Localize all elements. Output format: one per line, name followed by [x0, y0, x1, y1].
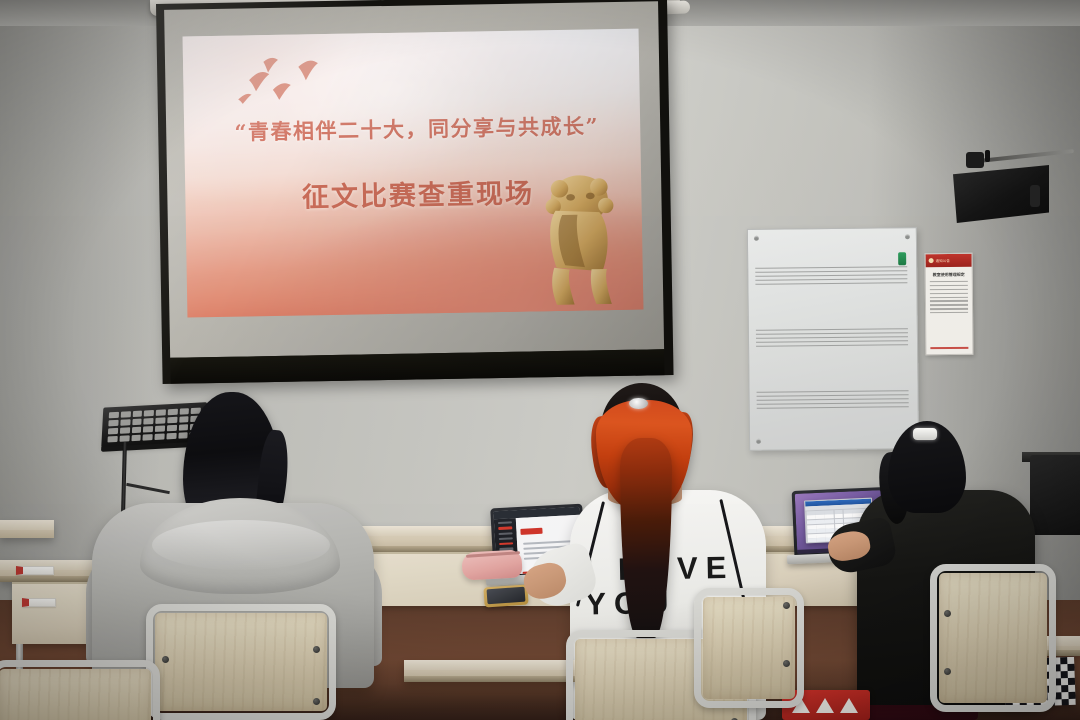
classroom-chair[interactable] [930, 564, 1056, 712]
chair-frame [930, 564, 1056, 712]
red-header-notice-poster: 通知公告 教室使用管理规定 [925, 253, 974, 355]
hair-clip [913, 428, 937, 440]
poster-header-text: 通知公告 [936, 258, 950, 263]
chair-frame [146, 604, 336, 720]
projection-screen: “青春相伴二十大，同分享与共成长” 征文比赛查重现场 [156, 0, 674, 384]
music-staff-whiteboard [747, 227, 919, 451]
primary-action-button[interactable] [521, 528, 543, 535]
classroom-chair[interactable] [0, 660, 160, 720]
chair-bolt [783, 602, 790, 609]
screen-surface: “青春相伴二十大，同分享与共成长” 征文比赛查重现场 [164, 1, 664, 358]
phone-screen[interactable] [487, 587, 526, 605]
music-stave [755, 266, 907, 288]
poster-header: 通知公告 [926, 254, 972, 267]
slide-title: “青春相伴二十大，同分享与共成长” [202, 110, 631, 147]
sweatshirt-text-line-1: I LOVE [584, 551, 755, 588]
desk-number-sticker [16, 566, 54, 575]
ponytail [620, 438, 672, 638]
classroom-desk [0, 520, 54, 538]
poster-footer-rule [930, 347, 968, 349]
classroom-chair[interactable] [694, 588, 804, 708]
chair-bolt [162, 656, 169, 663]
speaker-bolt [985, 150, 990, 162]
whiteboard-magnet[interactable] [898, 252, 906, 265]
whiteboard-screw [754, 236, 759, 241]
poster-title: 教室使用管理规定 [926, 272, 972, 278]
chair-bolt [783, 660, 790, 667]
speaker-bracket-cap [966, 152, 984, 168]
chair-bolt [313, 698, 320, 705]
projected-slide: “青春相伴二十大，同分享与共成长” 征文比赛查重现场 [183, 29, 644, 318]
desk-number-sticker [22, 598, 56, 607]
whiteboard-screw [756, 439, 761, 444]
desk-top-surface [0, 520, 54, 530]
chair-frame [0, 660, 160, 720]
chair-bolt [944, 668, 951, 675]
flying-birds-icon [206, 53, 371, 118]
whiteboard-screw [905, 234, 910, 239]
speaker-port [1030, 185, 1040, 207]
poster-body-lines [926, 281, 972, 314]
music-stave [757, 390, 909, 412]
classroom-chair[interactable] [146, 604, 336, 720]
dark-upright-equipment [1030, 455, 1080, 535]
chair-bolt [313, 646, 320, 653]
chinese-guardian-lion-icon [522, 164, 634, 312]
classroom-photo: “青春相伴二十大，同分享与共成长” 征文比赛查重现场 [0, 0, 1080, 720]
hair-clip [629, 398, 648, 409]
poster-emblem-icon [929, 258, 934, 263]
chair-bolt [944, 610, 951, 617]
music-stave [756, 328, 908, 350]
hood-fold-highlight [152, 520, 330, 570]
